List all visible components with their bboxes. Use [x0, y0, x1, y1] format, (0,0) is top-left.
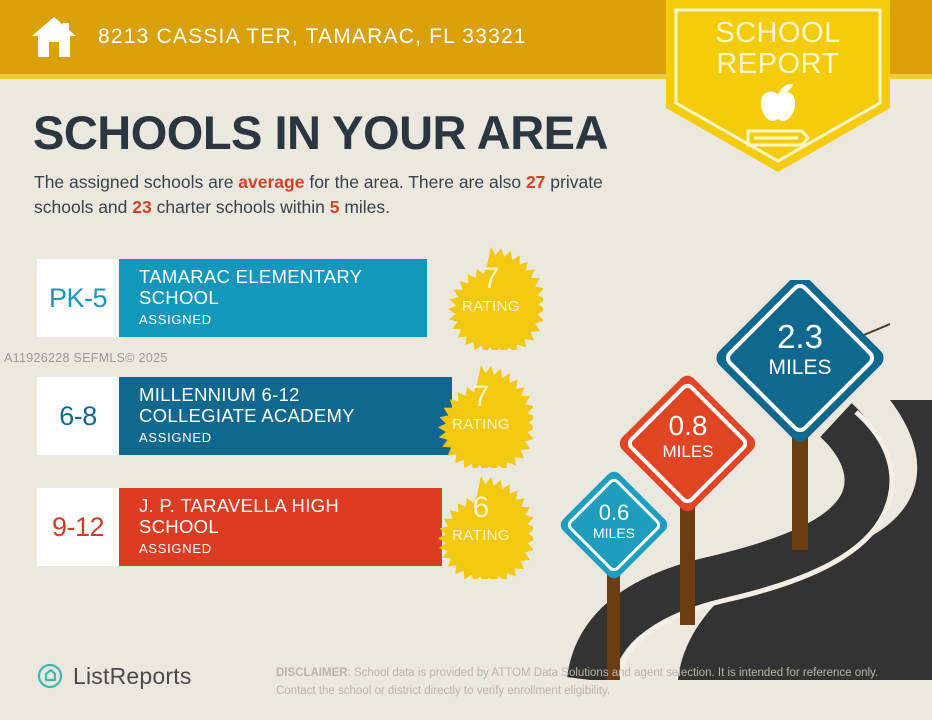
school-name-line2: COLLEGIATE ACADEMY: [139, 406, 452, 427]
school-name-line1: MILLENNIUM 6-12: [139, 385, 452, 406]
grade-range-box: 6-8: [37, 377, 119, 455]
school-row[interactable]: PK-5 TAMARAC ELEMENTARY SCHOOL ASSIGNED …: [37, 259, 427, 337]
property-address: 8213 CASSIA TER, TAMARAC, FL 33321: [98, 25, 527, 49]
grade-range-label: 9-12: [52, 512, 104, 543]
disclaimer-text: DISCLAIMER: School data is provided by A…: [276, 665, 886, 701]
school-status: ASSIGNED: [139, 312, 427, 327]
mls-watermark: A11926228 SEFMLS© 2025: [4, 351, 168, 365]
rating-value: 7: [429, 382, 533, 412]
listreports-house-icon: [36, 662, 64, 690]
rating-value: 7: [439, 264, 543, 294]
grade-range-box: 9-12: [37, 488, 119, 566]
sign-post-3: [792, 430, 808, 550]
disclaimer-body: : School data is provided by ATTOM Data …: [276, 667, 878, 697]
school-row[interactable]: 9-12 J. P. TARAVELLA HIGH SCHOOL ASSIGNE…: [37, 488, 442, 566]
header-content: 8213 CASSIA TER, TAMARAC, FL 33321: [30, 0, 527, 74]
intro-paragraph: The assigned schools are average for the…: [34, 170, 659, 221]
page-title: SCHOOLS IN YOUR AREA: [33, 105, 608, 160]
disclaimer-label: DISCLAIMER: [276, 667, 348, 679]
road-scene-illustration: 2.3 MILES 0.8 MILES 0.6 MILES: [560, 280, 932, 680]
rating-badge: 7 RATING: [439, 246, 543, 350]
school-name-line2: SCHOOL: [139, 288, 427, 309]
school-bar: J. P. TARAVELLA HIGH SCHOOL ASSIGNED: [119, 488, 442, 566]
rating-value: 6: [429, 493, 533, 523]
house-icon: [30, 15, 78, 59]
intro-part-4: charter schools within: [152, 197, 330, 217]
grade-range-label: 6-8: [59, 401, 97, 432]
school-report-badge: SCHOOL REPORT: [666, 0, 890, 172]
distance-sign-1: [560, 468, 671, 581]
rating-caption: RATING: [439, 298, 543, 315]
school-bar: MILLENNIUM 6-12 COLLEGIATE ACADEMY ASSIG…: [119, 377, 452, 455]
grade-range-box: PK-5: [37, 259, 119, 337]
rating-caption: RATING: [429, 527, 533, 544]
intro-part-5: miles.: [339, 197, 390, 217]
intro-emphasis-average: average: [238, 172, 304, 192]
school-status: ASSIGNED: [139, 541, 442, 556]
intro-part-1: The assigned schools are: [34, 172, 238, 192]
intro-emphasis-charter-count: 23: [132, 197, 151, 217]
school-bar: TAMARAC ELEMENTARY SCHOOL ASSIGNED: [119, 259, 427, 337]
listreports-wordmark: ListReports: [73, 663, 192, 690]
school-name-line1: TAMARAC ELEMENTARY: [139, 267, 427, 288]
school-name-line2: SCHOOL: [139, 517, 442, 538]
rating-badge: 7 RATING: [429, 364, 533, 468]
school-row[interactable]: 6-8 MILLENNIUM 6-12 COLLEGIATE ACADEMY A…: [37, 377, 452, 455]
rating-caption: RATING: [429, 416, 533, 433]
grade-range-label: PK-5: [49, 283, 107, 314]
listreports-logo[interactable]: ListReports: [36, 662, 192, 690]
school-status: ASSIGNED: [139, 430, 452, 445]
intro-emphasis-radius: 5: [330, 197, 340, 217]
school-name-line1: J. P. TARAVELLA HIGH: [139, 496, 442, 517]
rating-badge: 6 RATING: [429, 475, 533, 579]
intro-emphasis-private-count: 27: [526, 172, 545, 192]
intro-part-2: for the area. There are also: [304, 172, 525, 192]
